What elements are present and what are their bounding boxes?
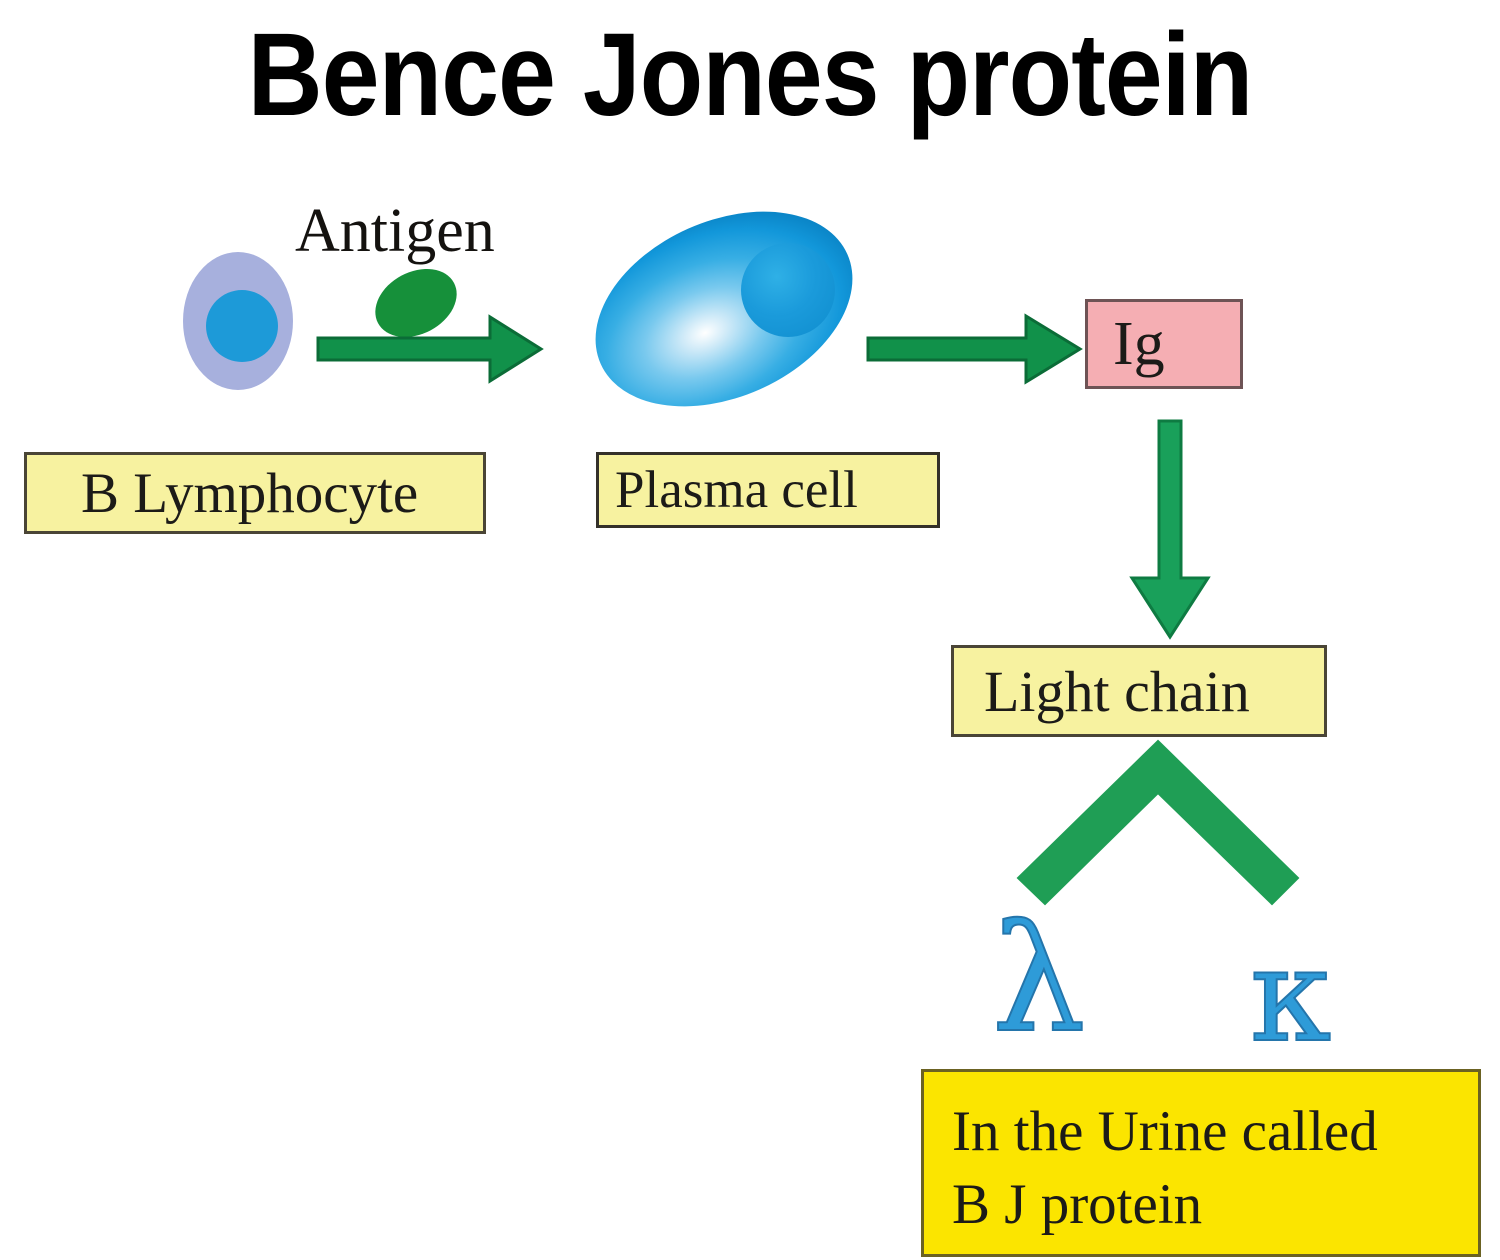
urine-bj-protein-label-box: In the Urine called B J protein [921, 1069, 1481, 1257]
lambda-symbol: λ [992, 905, 1086, 1053]
light-chain-label-box: Light chain [951, 645, 1327, 737]
plasma-cell-nucleus [741, 243, 835, 337]
kappa-symbol: κ [1250, 930, 1331, 1060]
ig-label-box: Ig [1085, 299, 1243, 389]
b-lymphocyte-nucleus [206, 290, 278, 362]
plasma-cell-cytoplasm [565, 174, 883, 445]
urine-line-1: In the Urine called [952, 1096, 1378, 1169]
diagram-canvas: Bence Jones protein Antigen λ κ B Lymph [0, 0, 1500, 1260]
plasma-cell-icon [589, 221, 859, 397]
antigen-blob-icon [363, 255, 468, 350]
plasma-cell-label-box: Plasma cell [596, 452, 940, 528]
arrow-down-icon [1132, 421, 1208, 637]
b-lymphocyte-cell-icon [183, 252, 293, 390]
b-lymphocyte-label-box: B Lymphocyte [24, 452, 486, 534]
urine-line-2: B J protein [952, 1169, 1202, 1242]
chevron-up-branch-icon [1018, 741, 1298, 904]
arrow-right-icon-2 [868, 316, 1080, 382]
antigen-label: Antigen [295, 196, 495, 267]
page-title: Bence Jones protein [90, 14, 1410, 138]
